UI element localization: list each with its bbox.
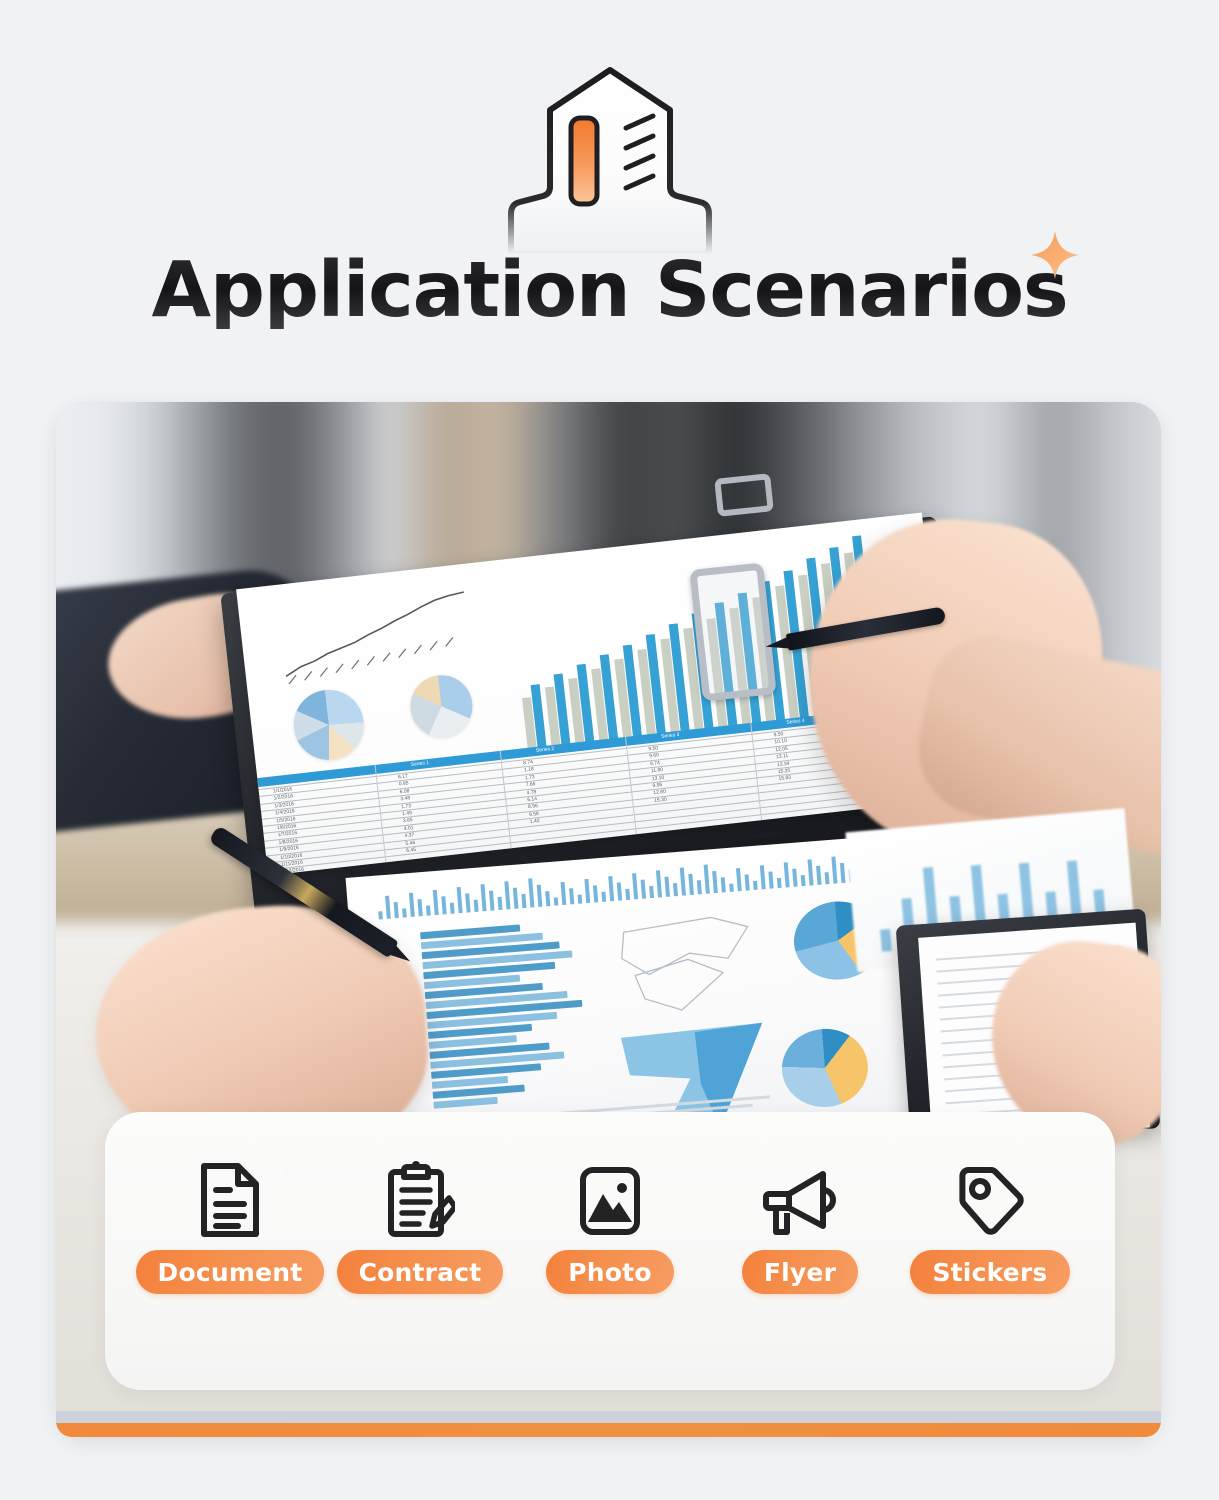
mini-bar — [721, 877, 726, 892]
mini-bar — [489, 890, 495, 910]
mini-bar — [768, 871, 773, 888]
building-tower-icon — [495, 62, 725, 257]
mini-bar — [760, 865, 766, 889]
badge-item-contract[interactable]: Contract — [325, 1158, 515, 1294]
application-scenarios-page: Application Scenarios — [0, 0, 1219, 1500]
mini-bar — [649, 886, 654, 898]
mini-bar — [641, 880, 646, 899]
badge-label-contract[interactable]: Contract — [337, 1250, 504, 1294]
pie-chart-4 — [779, 1026, 871, 1111]
mini-bar — [441, 896, 446, 914]
mini-bar — [504, 881, 510, 909]
mini-bar — [521, 894, 526, 908]
mini-bar — [831, 856, 837, 883]
mini-bar — [409, 893, 415, 917]
photo-bottom-accent-bar — [56, 1421, 1161, 1437]
clipboard-clip-metal — [689, 562, 776, 701]
mini-bar — [729, 884, 734, 892]
page-header: Application Scenarios — [0, 0, 1219, 392]
line-chart — [274, 582, 511, 687]
mini-bar — [457, 887, 463, 913]
chart-bar — [880, 929, 892, 952]
mini-bar — [480, 884, 486, 911]
mini-bar — [801, 875, 806, 886]
mini-bar — [465, 893, 470, 912]
mini-bar — [554, 897, 559, 905]
pie-chart-2 — [407, 672, 476, 741]
mini-bar — [632, 873, 638, 899]
mini-bar — [378, 911, 383, 919]
mini-bar — [402, 908, 407, 917]
mini-bar — [680, 867, 686, 895]
badge-label-flyer[interactable]: Flyer — [742, 1250, 858, 1294]
mini-bar — [593, 885, 598, 902]
application-scenarios-panel: Document — [105, 1112, 1115, 1390]
mini-bar — [777, 878, 782, 888]
mini-bar — [656, 870, 662, 897]
mini-bar — [784, 862, 790, 887]
price-tag-icon — [955, 1158, 1025, 1238]
sparkle-star-icon — [1028, 228, 1082, 282]
badge-label-stickers[interactable]: Stickers — [910, 1250, 1069, 1294]
mini-bar — [537, 885, 543, 907]
mini-bar — [569, 888, 574, 904]
mini-bar — [417, 899, 422, 916]
mini-bar — [625, 889, 630, 900]
mini-bar — [736, 868, 742, 891]
mini-bar — [745, 874, 750, 890]
mini-bar — [808, 859, 814, 885]
clipboard-clip-handle — [714, 473, 774, 517]
mini-bar — [673, 883, 678, 896]
badge-label-document[interactable]: Document — [136, 1250, 325, 1294]
mini-bar — [816, 866, 821, 885]
badge-row: Document — [105, 1158, 1115, 1294]
horizontal-bar — [433, 1097, 497, 1109]
mini-bar — [513, 888, 519, 909]
megaphone-icon — [761, 1158, 839, 1238]
photo-accent-cover — [56, 1411, 1161, 1423]
mini-bar — [753, 881, 758, 890]
document-icon — [198, 1158, 262, 1238]
badge-item-flyer[interactable]: Flyer — [705, 1158, 895, 1294]
mini-bar — [697, 880, 702, 894]
mini-bar — [584, 879, 590, 903]
polygon-sketch-chart — [615, 908, 763, 1029]
mini-bar — [450, 903, 455, 914]
mini-bar — [394, 902, 399, 918]
mini-bar — [561, 882, 567, 905]
mini-bar — [608, 876, 614, 901]
mini-bar — [825, 872, 830, 884]
page-title: Application Scenarios — [152, 252, 1068, 329]
mini-bar — [545, 891, 550, 906]
badge-label-photo[interactable]: Photo — [546, 1250, 673, 1294]
mini-bar — [664, 877, 670, 897]
mini-bar — [578, 895, 583, 904]
horizontal-bar-chart — [420, 918, 619, 1112]
mini-bar — [433, 890, 439, 915]
mini-bar — [688, 874, 694, 895]
badge-item-stickers[interactable]: Stickers — [895, 1158, 1085, 1294]
badge-item-photo[interactable]: Photo — [515, 1158, 705, 1294]
mini-bar — [704, 865, 710, 894]
mini-bar — [792, 869, 797, 887]
mini-bar — [712, 871, 718, 893]
badge-item-document[interactable]: Document — [135, 1158, 325, 1294]
mini-bar — [385, 896, 391, 919]
mini-bar — [617, 882, 622, 900]
mini-bar — [498, 897, 503, 910]
pie-chart-1 — [290, 686, 367, 763]
mini-bar — [528, 878, 534, 907]
mini-bar — [474, 900, 479, 912]
image-picture-icon — [579, 1158, 641, 1238]
clipboard-pencil-icon — [385, 1158, 455, 1238]
mini-bar — [426, 905, 431, 915]
mini-bar — [601, 892, 606, 902]
mini-bar — [840, 863, 846, 883]
